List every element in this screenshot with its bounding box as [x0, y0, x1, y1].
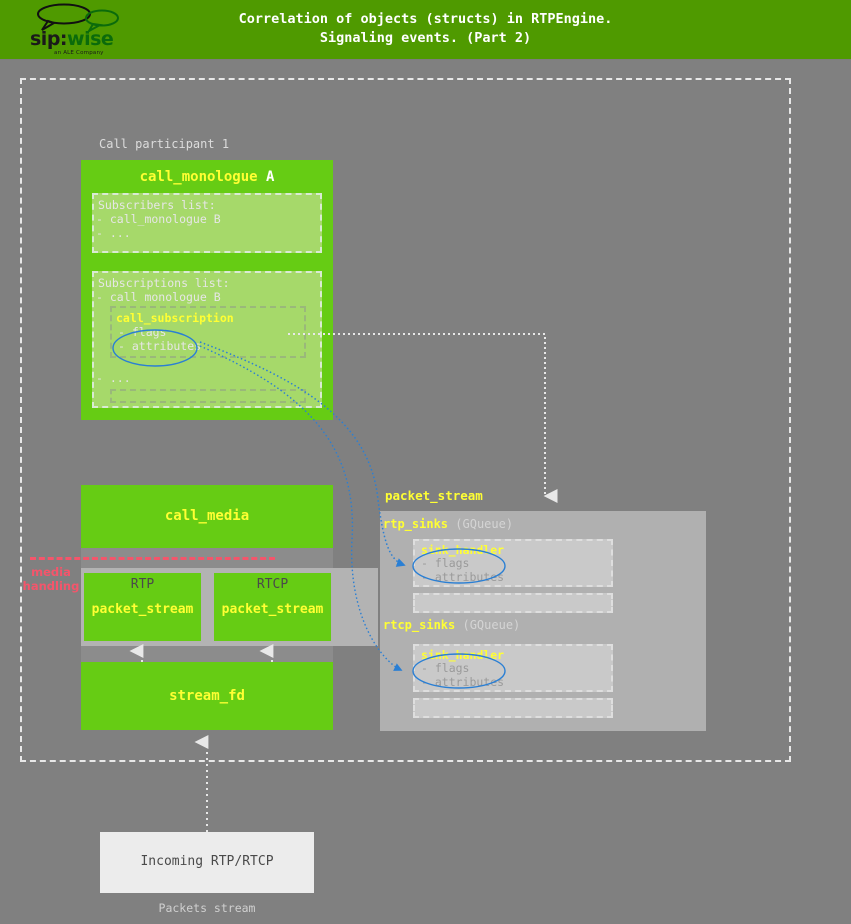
rtcp-sinks-type: (GQueue)	[462, 618, 520, 632]
subscriptions-item-0: - call monologue B	[96, 290, 221, 304]
media-handling-line1: media	[22, 565, 80, 579]
logo-sip-text: sip:	[30, 28, 67, 50]
rtp-kind-label: RTP	[84, 577, 201, 592]
logo-wordmark: sip:wise	[30, 30, 126, 49]
rtp-sink-handler-fields: - flags - attributes	[421, 556, 504, 584]
page-title-line1: Correlation of objects (structs) in RTPE…	[160, 10, 691, 29]
call-subscription-flags: - flags	[118, 325, 166, 339]
subscriptions-heading: Subscriptions list:	[98, 276, 230, 290]
rtp-sink-handler-title: sink_handler	[421, 543, 504, 557]
call-monologue-a-suffix: A	[258, 169, 275, 185]
rtcp-sinks-label: rtcp_sinks (GQueue)	[383, 618, 520, 632]
media-handling-line2: handling	[22, 579, 80, 593]
rtcp-sink-handler-slot[interactable]: sink_handler - flags - attributes	[413, 644, 613, 692]
sipwise-logo: sip:wise an ALE Company	[30, 2, 126, 58]
rtcp-struct-label: packet_stream	[214, 602, 331, 617]
rtcp-sink-handler-fields: - flags - attributes	[421, 661, 504, 689]
rtcp-packet-stream-box[interactable]: RTCP packet_stream	[214, 573, 331, 641]
page-title: Correlation of objects (structs) in RTPE…	[160, 10, 691, 48]
call-monologue-a-struct: call_monologue	[140, 169, 258, 185]
call-monologue-a-box[interactable]: call_monologue A Subscribers list: - cal…	[81, 160, 333, 420]
subscribers-item-1: - ...	[96, 226, 131, 240]
rtcp-sink-handler-title: sink_handler	[421, 648, 504, 662]
rtp-packet-stream-box[interactable]: RTP packet_stream	[84, 573, 201, 641]
call-participant-label: Call participant 1	[99, 137, 229, 151]
stream-fd-title: stream_fd	[81, 688, 333, 704]
call-monologue-a-title: call_monologue A	[81, 169, 333, 185]
call-media-title: call_media	[81, 508, 333, 524]
subscriptions-list-panel: Subscriptions list: - call monologue B c…	[92, 271, 322, 408]
stream-fd-box[interactable]: stream_fd	[81, 662, 333, 730]
packet-stream-label: packet_stream	[385, 488, 483, 503]
rtp-sinks-label: rtp_sinks (GQueue)	[383, 517, 513, 531]
rtp-struct-label: packet_stream	[84, 602, 201, 617]
packets-stream-label: Packets stream	[100, 901, 314, 915]
rtp-sinks-name: rtp_sinks	[383, 517, 448, 531]
call-subscription-panel[interactable]: call_subscription - flags - attributes	[110, 306, 306, 358]
page-title-line2: Signaling events. (Part 2)	[160, 29, 691, 48]
rtcp-kind-label: RTCP	[214, 577, 331, 592]
rtp-sink-empty-slot	[413, 593, 613, 613]
app-header: sip:wise an ALE Company Correlation of o…	[0, 0, 851, 60]
media-handling-label: media handling	[22, 565, 80, 593]
rtp-sinks-type: (GQueue)	[455, 517, 513, 531]
subscribers-heading: Subscribers list:	[98, 198, 216, 212]
rtcp-sinks-name: rtcp_sinks	[383, 618, 455, 632]
packet-stream-panel: rtp_sinks (GQueue) sink_handler - flags …	[380, 511, 706, 731]
incoming-rtp-rtcp-label: Incoming RTP/RTCP	[100, 854, 314, 869]
logo-tagline: an ALE Company	[54, 50, 134, 56]
call-media-box[interactable]: call_media	[81, 485, 333, 548]
subscribers-list-panel: Subscribers list: - call_monologue B - .…	[92, 193, 322, 253]
call-subscription-title: call_subscription	[116, 311, 234, 325]
incoming-rtp-rtcp-box[interactable]: Incoming RTP/RTCP	[100, 832, 314, 893]
call-subscription-attributes: - attributes	[118, 339, 201, 353]
rtp-sink-handler-slot[interactable]: sink_handler - flags - attributes	[413, 539, 613, 587]
subscribers-item-0: - call_monologue B	[96, 212, 221, 226]
media-handling-divider	[30, 557, 275, 560]
logo-wise-text: wise	[67, 28, 113, 50]
rtcp-sink-empty-slot	[413, 698, 613, 718]
subscription-empty-slot	[110, 389, 306, 403]
subscriptions-item-1: - ...	[96, 371, 131, 385]
